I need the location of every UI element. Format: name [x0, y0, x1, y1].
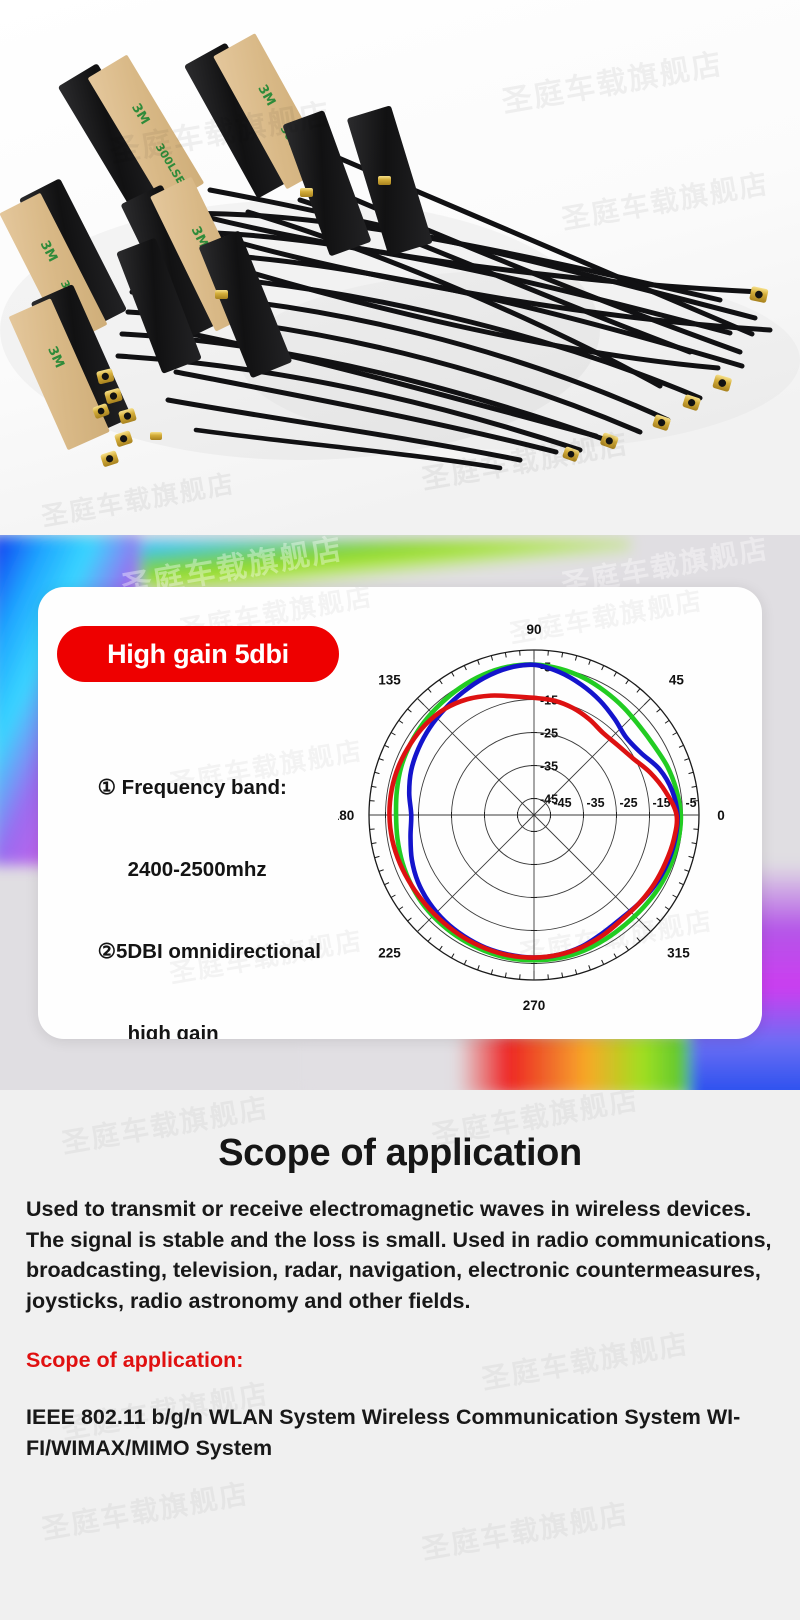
product-photo-image: 3M 300LSE 3M 300LSE 3M 300LSE 3M 300LSE	[0, 0, 800, 535]
high-gain-badge-label: High gain 5dbi	[107, 639, 289, 670]
watermark: 圣庭车载旗舰店	[38, 1472, 252, 1548]
promo-section: 圣庭车载旗舰店 圣庭车载旗舰店 圣庭车载旗舰店 圣庭车载旗舰店 圣庭车载旗舰店 …	[0, 535, 800, 1090]
svg-text:315: 315	[667, 945, 690, 960]
svg-text:180: 180	[338, 808, 354, 823]
scope-standards-text: IEEE 802.11 b/g/n WLAN System Wireless C…	[26, 1402, 774, 1464]
feature-marker: ②	[98, 940, 116, 963]
watermark: 圣庭车载旗舰店	[418, 1492, 632, 1568]
feature-text: high gain	[128, 1022, 219, 1040]
feature-text: Frequency band:	[122, 776, 287, 799]
svg-text:-25: -25	[620, 796, 638, 810]
svg-text:270: 270	[523, 998, 546, 1013]
watermark: 圣庭车载旗舰店	[478, 1322, 692, 1398]
svg-text:0: 0	[717, 808, 725, 823]
feature-text: 2400-2500mhz	[128, 858, 267, 881]
feature-marker: ①	[98, 776, 116, 799]
svg-text:-5: -5	[686, 796, 697, 810]
svg-text:-45: -45	[554, 796, 572, 810]
svg-text:-35: -35	[587, 796, 605, 810]
svg-text:-35: -35	[540, 760, 558, 774]
svg-text:90: 90	[526, 622, 541, 637]
promo-card: 圣庭车载旗舰店 圣庭车载旗舰店 圣庭车载旗舰店 圣庭车载旗舰店 圣庭车载旗舰店 …	[38, 587, 762, 1039]
svg-text:45: 45	[669, 673, 685, 688]
radiation-pattern-chart: 04590135180225270315-5-15-25-35-45-45-35…	[338, 597, 758, 1037]
svg-text:225: 225	[378, 945, 401, 960]
feature-text: 5DBI omnidirectional	[116, 940, 321, 963]
svg-text:-25: -25	[540, 727, 558, 741]
product-photo-section: 3M 300LSE 3M 300LSE 3M 300LSE 3M 300LSE	[0, 0, 800, 535]
svg-text:135: 135	[378, 673, 401, 688]
scope-section: 圣庭车载旗舰店 圣庭车载旗舰店 圣庭车载旗舰店 圣庭车载旗舰店 圣庭车载旗舰店 …	[0, 1090, 800, 1620]
scope-body-text: Used to transmit or receive electromagne…	[26, 1194, 774, 1316]
high-gain-badge: High gain 5dbi	[57, 626, 339, 682]
page-title: Scope of application	[0, 1132, 800, 1175]
scope-subtitle: Scope of application:	[26, 1348, 243, 1373]
